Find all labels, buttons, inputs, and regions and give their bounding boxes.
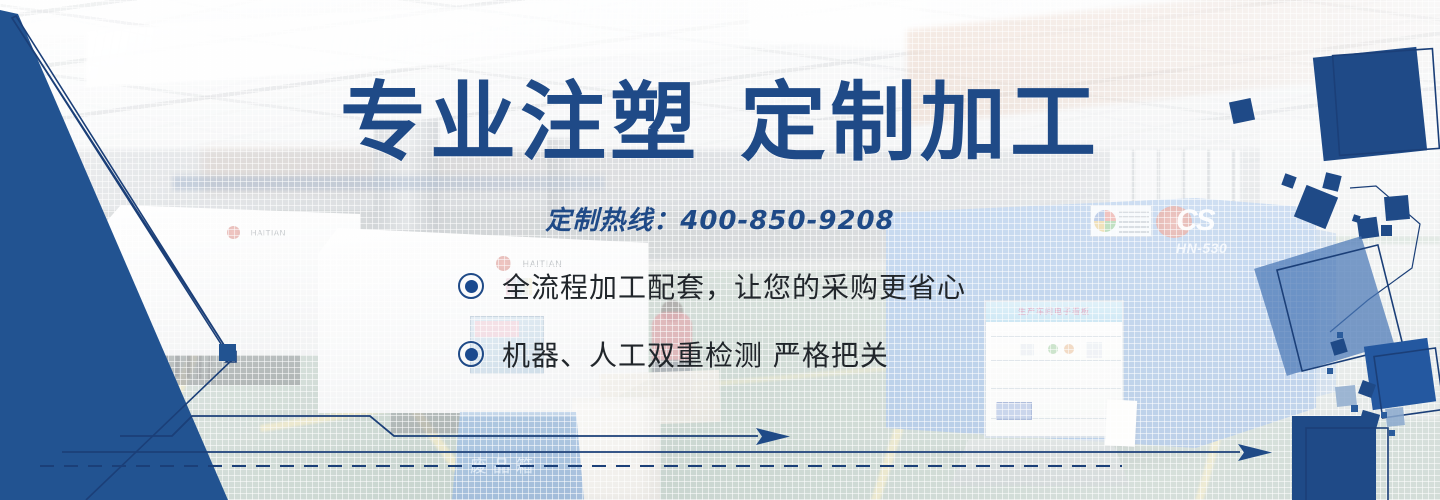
headline-part-1: 专业注塑	[340, 73, 700, 173]
hotline-line: 定制热线：400-850-9208	[0, 200, 1440, 237]
headline-part-2: 定制加工	[740, 73, 1100, 173]
target-dot-icon	[458, 341, 484, 367]
hotline-number[interactable]: 400-850-9208	[680, 206, 895, 236]
banner-headline: 专业注塑定制加工	[0, 80, 1440, 166]
hotline-label: 定制热线：	[545, 206, 680, 236]
factory-background-photo: HAITIAN HAITIAN 废品箱 CS HN-530 生产车间电子看板	[0, 0, 1440, 500]
promo-banner: HAITIAN HAITIAN 废品箱 CS HN-530 生产车间电子看板	[0, 0, 1440, 500]
selling-points-list: 全流程加工配套，让您的采购更省心 机器、人工双重检测 严格把关	[458, 266, 1218, 402]
target-dot-icon	[458, 273, 484, 299]
selling-point-text: 全流程加工配套，让您的采购更省心	[502, 266, 966, 306]
list-item: 机器、人工双重检测 严格把关	[458, 334, 1218, 374]
selling-point-text: 机器、人工双重检测 严格把关	[502, 334, 889, 374]
list-item: 全流程加工配套，让您的采购更省心	[458, 266, 1218, 306]
